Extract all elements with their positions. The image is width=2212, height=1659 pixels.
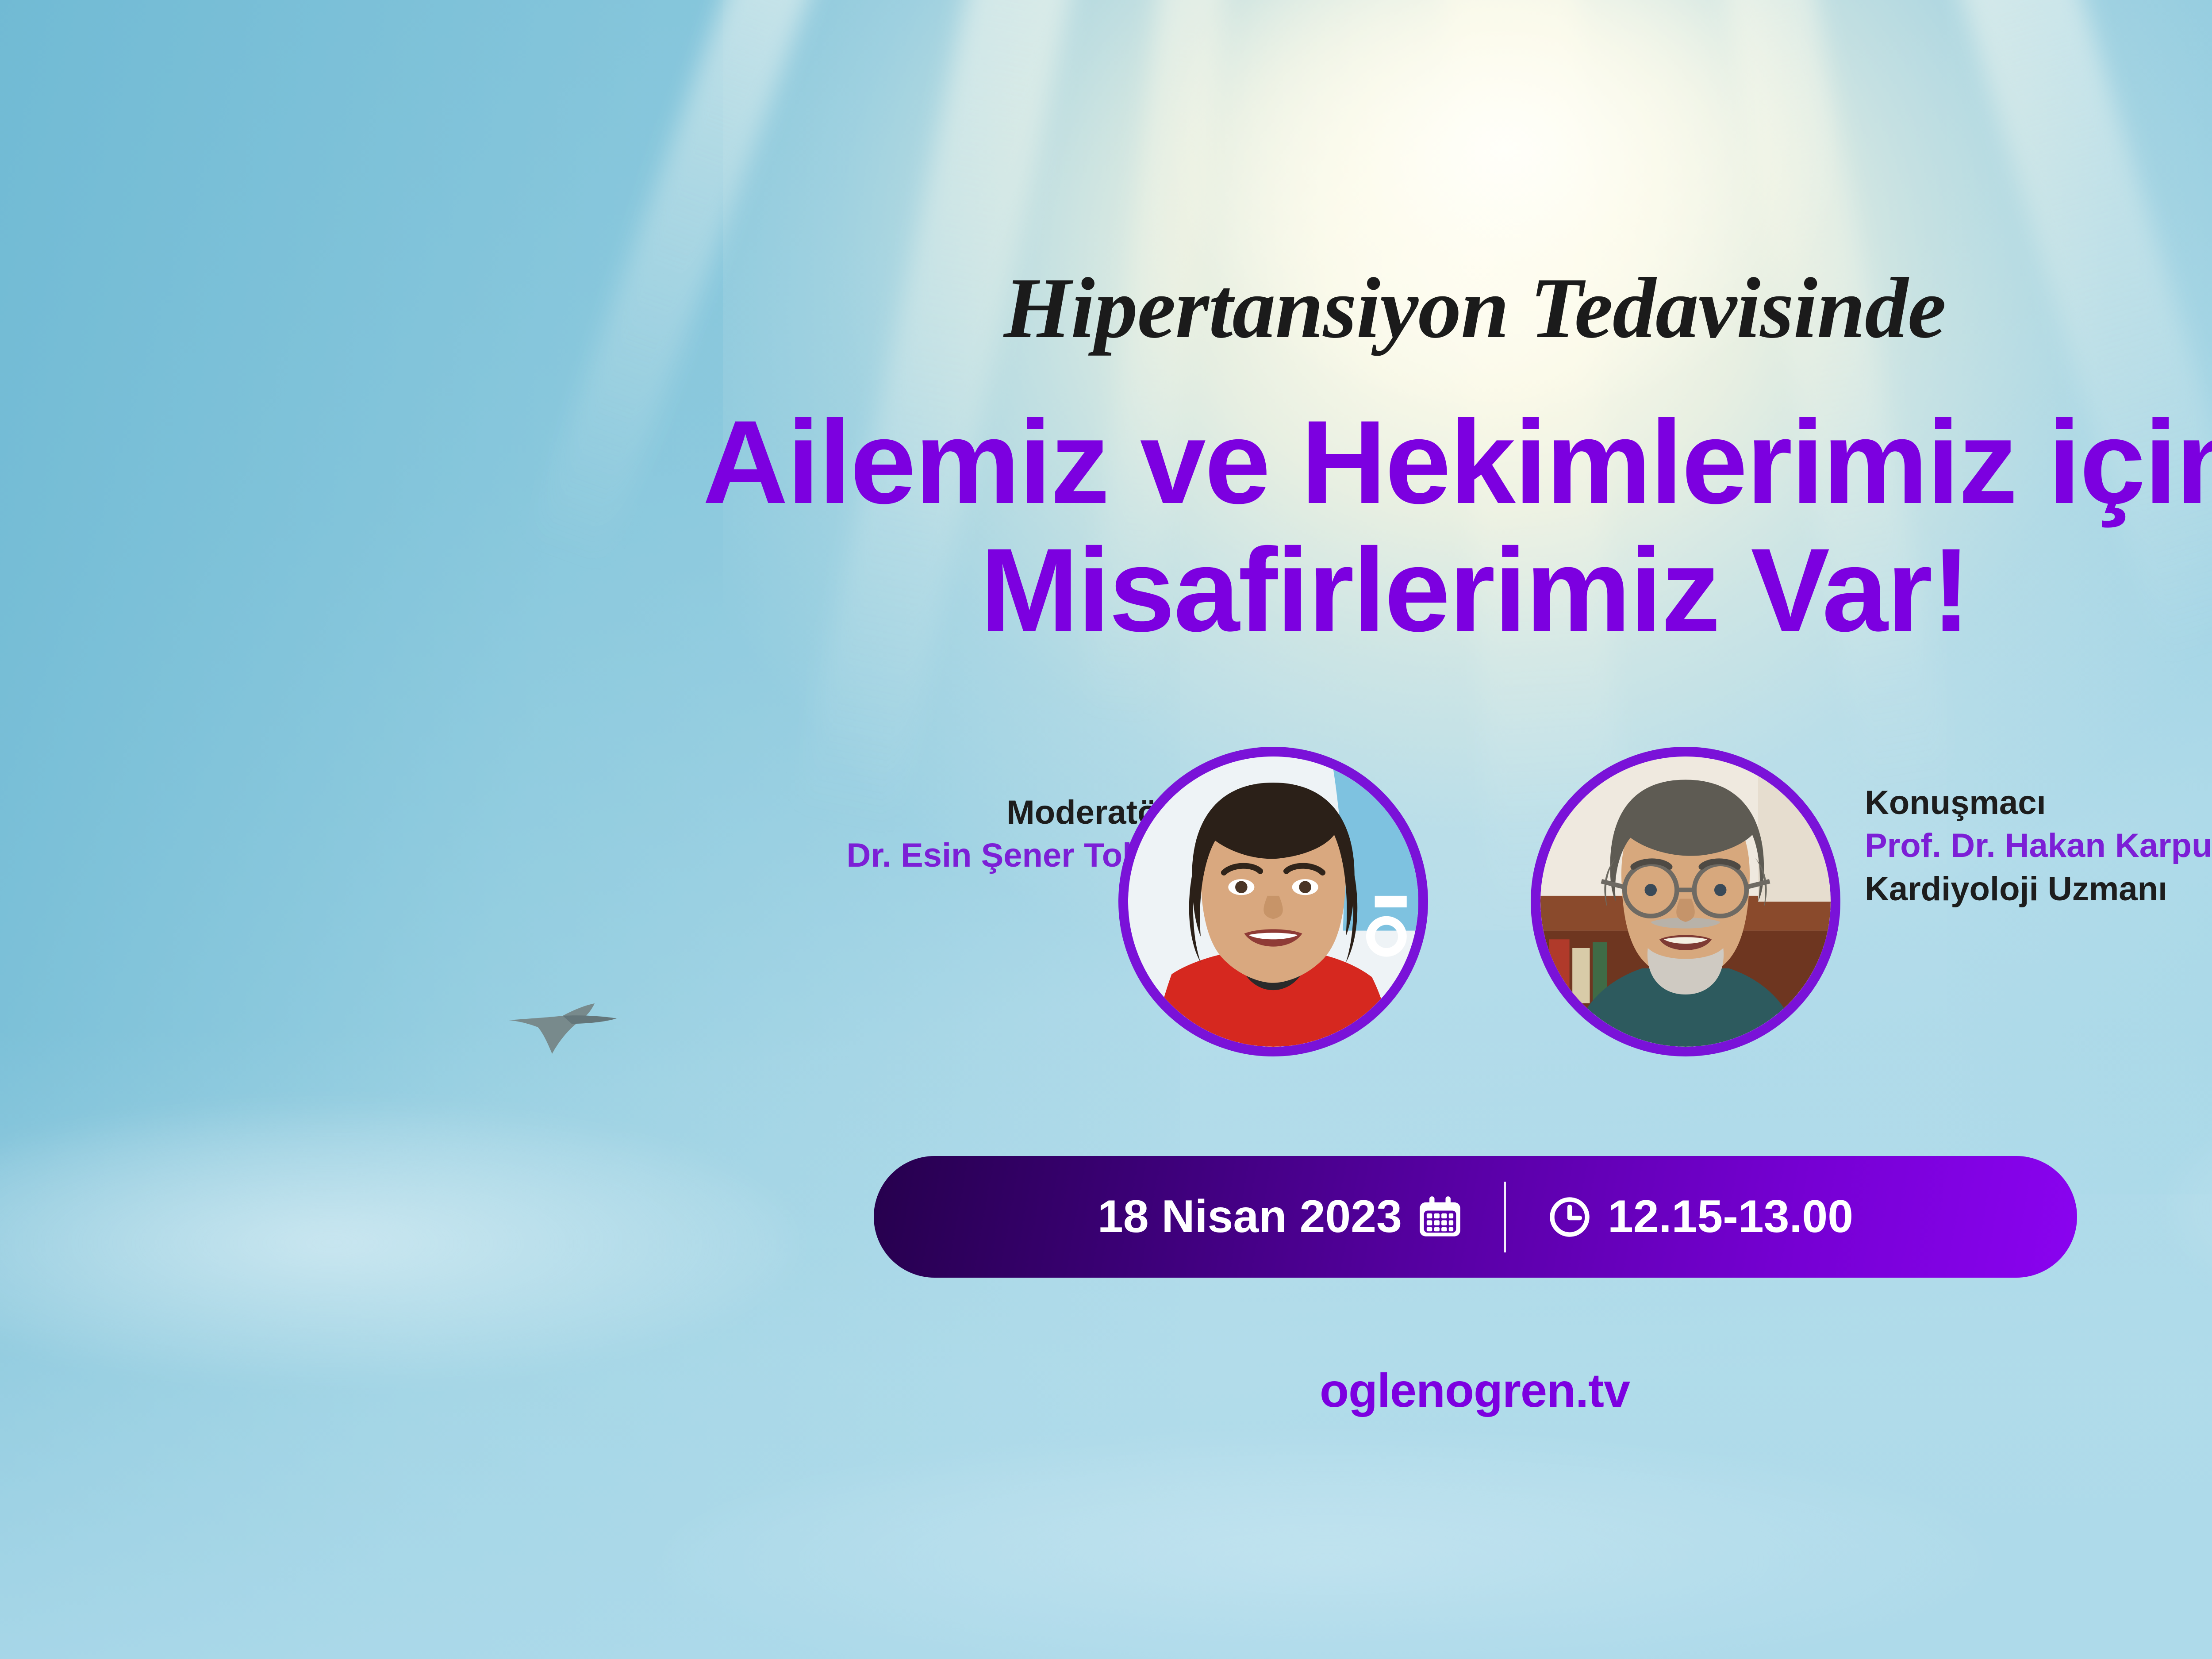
event-date-text: 18 Nisan 2023 (1098, 1190, 1402, 1243)
event-datetime-pill: 18 Nisan 2023 (874, 1156, 2077, 1278)
speaker-name: Prof. Dr. Hakan Karpuz (1865, 824, 2212, 867)
event-time-text: 12.15-13.00 (1608, 1190, 1853, 1243)
moderator-role-label: Moderatör (552, 791, 1171, 834)
speaker-photo (1540, 757, 1831, 1047)
headline-line-2: Misafirlerimiz Var! (0, 526, 2212, 654)
speaker-role-label: Konuşmacı (1865, 781, 2212, 824)
moderator-name: Dr. Esin Şener Tokat (552, 834, 1171, 877)
speaker-info: Konuşmacı Prof. Dr. Hakan Karpuz Kardiyo… (1865, 781, 2212, 910)
avatar-moderator (1118, 747, 1428, 1056)
event-banner: Hipertansiyon Tedavisinde Ailemiz ve Hek… (0, 0, 2212, 1659)
moderator-photo (1128, 757, 1418, 1047)
headline-line-1: Ailemiz ve Hekimlerimiz için (703, 396, 2212, 528)
speaker-title: Kardiyoloji Uzmanı (1865, 868, 2212, 910)
event-date-group: 18 Nisan 2023 (1098, 1190, 1504, 1243)
event-time-group: 12.15-13.00 (1506, 1190, 1853, 1243)
calendar-icon (1417, 1194, 1463, 1240)
page-kicker: Hipertansiyon Tedavisinde (0, 263, 2212, 353)
speakers-row: Moderatör Dr. Esin Şener Tokat (0, 747, 2212, 1110)
clock-icon (1547, 1194, 1593, 1240)
avatar-speaker (1531, 747, 1840, 1056)
moderator-info: Moderatör Dr. Esin Şener Tokat (552, 791, 1171, 877)
page-title: Ailemiz ve Hekimlerimiz için Misafirleri… (0, 398, 2212, 654)
website-url[interactable]: oglenogren.tv (0, 1363, 2212, 1418)
